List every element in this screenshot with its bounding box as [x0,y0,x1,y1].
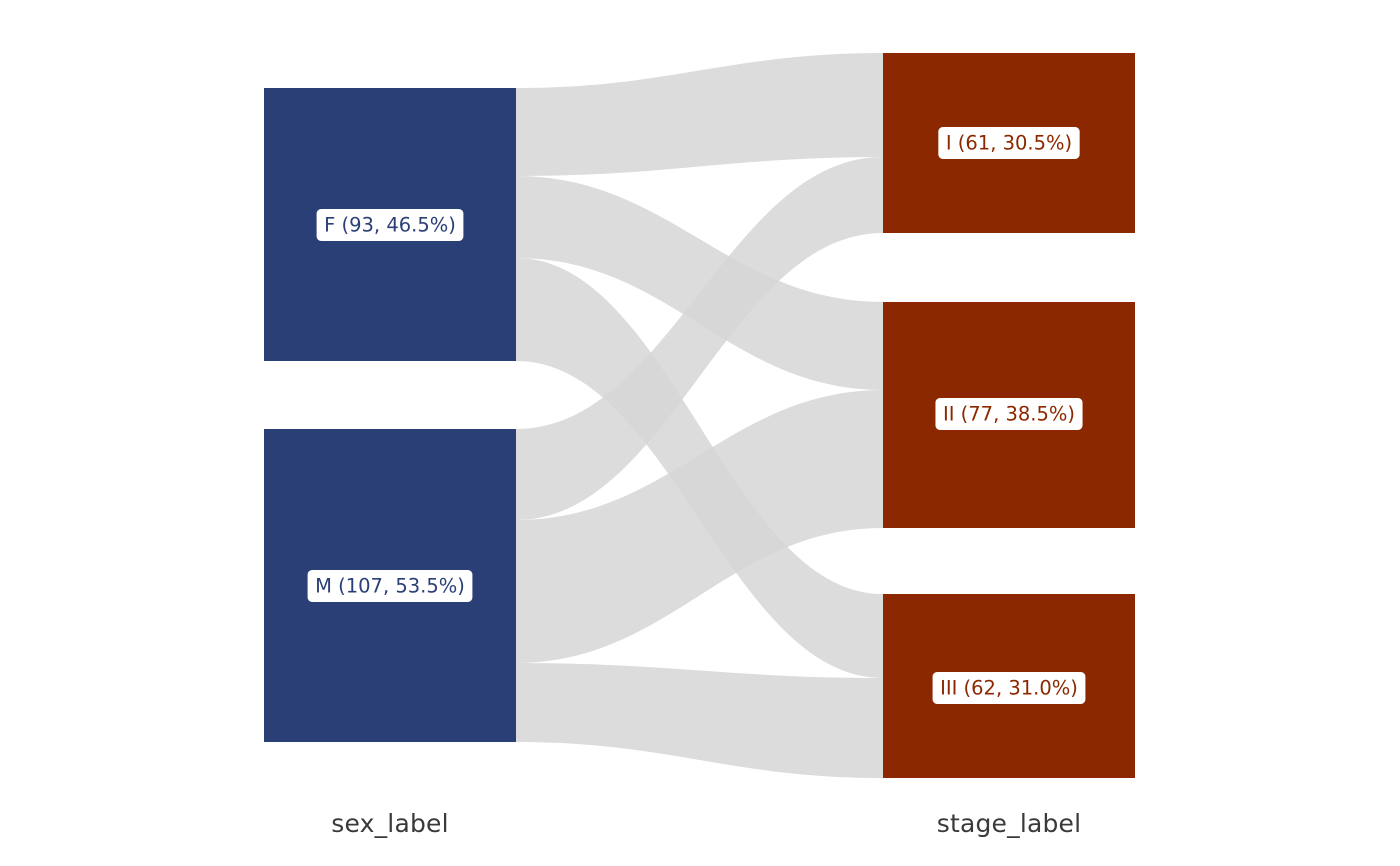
node-label-i: I (61, 30.5%) [939,128,1079,159]
sankey-canvas: F (93, 46.5%)M (107, 53.5%)I (61, 30.5%)… [0,0,1400,866]
node-label-value: III (62, 31.0%) [940,677,1078,700]
node-label-m: M (107, 53.5%) [308,571,472,602]
node-label-value: M (107, 53.5%) [315,575,465,598]
node-label-value: II (77, 38.5%) [943,403,1075,426]
node-label-f: F (93, 46.5%) [317,210,463,241]
axis-label-stage: stage_label [937,809,1082,838]
node-label-ii: II (77, 38.5%) [936,399,1082,430]
node-label-value: I (61, 30.5%) [946,132,1072,155]
sankey-figure: F (93, 46.5%)M (107, 53.5%)I (61, 30.5%)… [0,0,1400,866]
axis-label-sex: sex_label [331,809,449,838]
node-label-value: F (93, 46.5%) [324,214,456,237]
node-label-iii: III (62, 31.0%) [933,673,1085,704]
